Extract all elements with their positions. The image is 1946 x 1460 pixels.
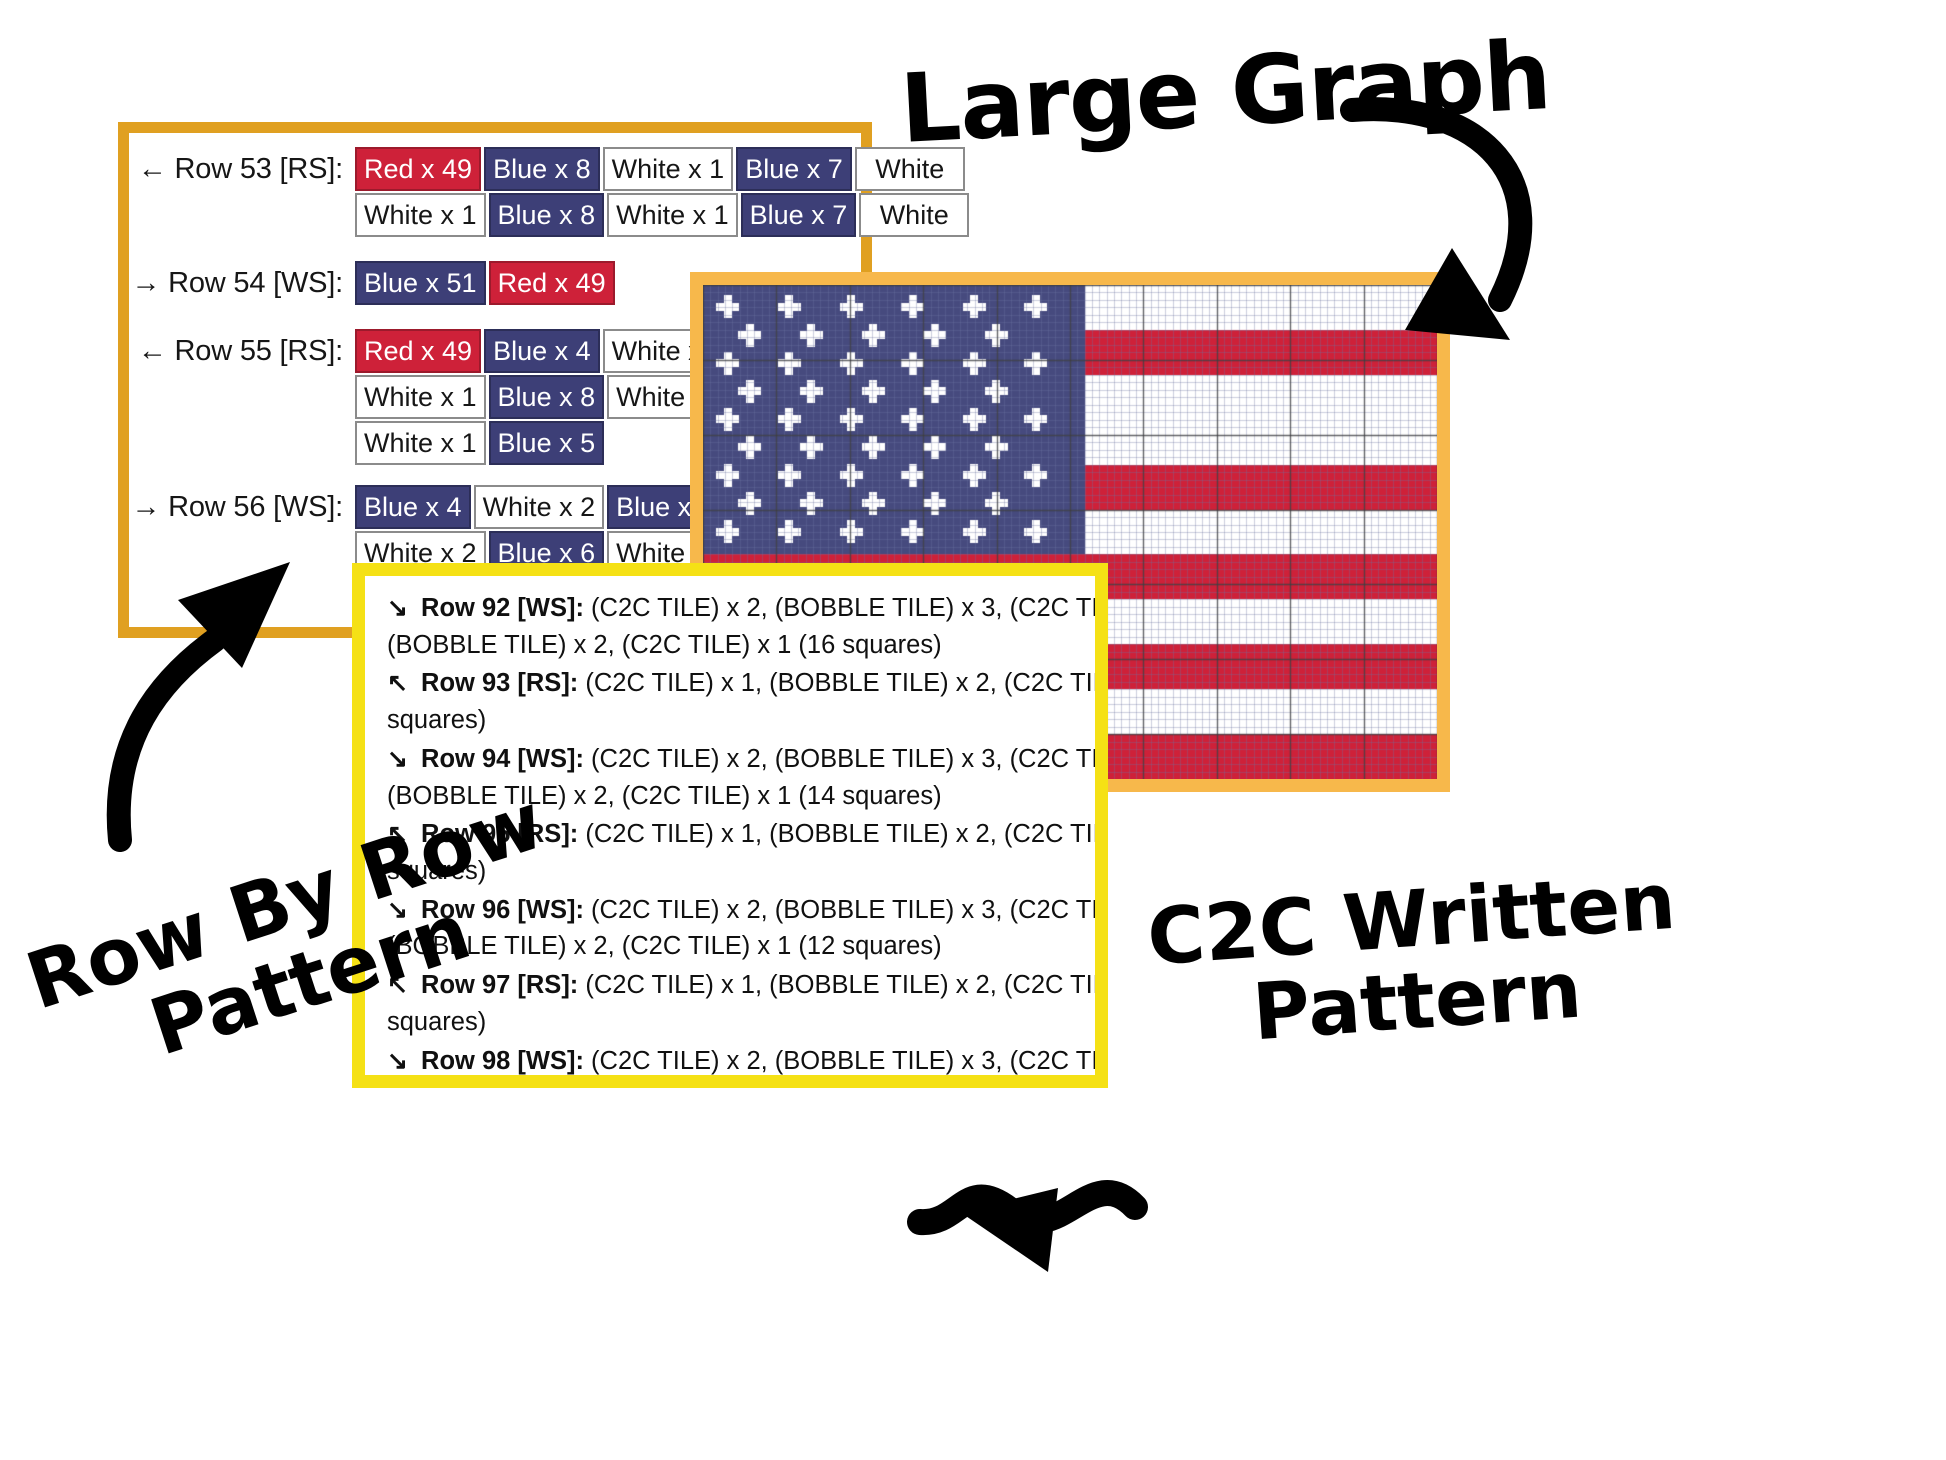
c2c-row-instructions: (C2C TILE) x 2, (BOBBLE TILE) x 3, (C2C … (591, 745, 1108, 773)
color-count-cell: Blue x 8 (489, 375, 605, 419)
color-count-cell: White x 1 (355, 421, 486, 465)
color-count-cell: Blue x 4 (355, 485, 471, 529)
c2c-row-continuation: (BOBBLE TILE) x 2, (C2C TILE) x 1 (12 sq… (387, 928, 1095, 965)
label-c2c-line2: Pattern (1151, 943, 1684, 1062)
c2c-row-continuation: squares) (387, 702, 1095, 739)
c2c-pattern-line: ↘ Row 98 [WS]: (C2C TILE) x 2, (BOBBLE T… (387, 1043, 1095, 1080)
c2c-pattern-line: ↘ Row 96 [WS]: (C2C TILE) x 2, (BOBBLE T… (387, 892, 1095, 929)
c2c-pattern-line: ↖ Row 93 [RS]: (C2C TILE) x 1, (BOBBLE T… (387, 665, 1095, 702)
c2c-row-continuation: squares) (387, 1079, 1095, 1088)
direction-arrow-icon: ↖ (387, 669, 414, 697)
color-count-cell: Blue x 4 (484, 329, 600, 373)
row-color-cells: White x 1Blue x 8White x 1Blue x 7White (355, 193, 972, 237)
c2c-row-instructions: (C2C TILE) x 2, (BOBBLE TILE) x 3, (C2C … (591, 1047, 1108, 1075)
direction-arrow-icon: ↖ (387, 971, 414, 999)
row-label: ← Row 53 [RS]: (129, 153, 355, 186)
color-count-cell: White (859, 193, 969, 237)
poster-canvas: ← Row 53 [RS]:Red x 49Blue x 8White x 1B… (0, 0, 1946, 1460)
c2c-row-label: Row 98 [WS]: (414, 1047, 591, 1075)
row-color-cells: Red x 49Blue x 8White x 1Blue x 7White (355, 147, 968, 191)
direction-arrow-icon: ↘ (387, 594, 414, 622)
row-by-row-line: ← Row 53 [RS]:Red x 49Blue x 8White x 1B… (129, 147, 861, 191)
color-count-cell: Red x 49 (355, 147, 481, 191)
row-color-cells: Blue x 51Red x 49 (355, 261, 618, 305)
c2c-pattern-line: ↖ Row 95 [RS]: (C2C TILE) x 1, (BOBBLE T… (387, 816, 1095, 853)
row-label: → Row 56 [WS]: (129, 491, 355, 524)
color-count-cell: White (855, 147, 965, 191)
c2c-row-instructions: (C2C TILE) x 1, (BOBBLE TILE) x 2, (C2C … (585, 971, 1108, 999)
c2c-row-continuation: squares) (387, 1004, 1095, 1041)
c2c-row-label: Row 96 [WS]: (414, 896, 591, 924)
label-c2c-line1: C2C Written (1145, 862, 1678, 981)
color-count-cell: White x 1 (607, 193, 738, 237)
color-count-cell: White x 2 (474, 485, 605, 529)
c2c-row-instructions: (C2C TILE) x 2, (BOBBLE TILE) x 3, (C2C … (591, 594, 1108, 622)
color-count-cell: White x 1 (355, 193, 486, 237)
color-count-cell: White x 1 (603, 147, 734, 191)
row-by-row-line: White x 1Blue x 8White x 1Blue x 7White (129, 193, 861, 237)
c2c-row-label: Row 94 [WS]: (414, 745, 591, 773)
c2c-row-continuation: (BOBBLE TILE) x 2, (C2C TILE) x 1 (14 sq… (387, 778, 1095, 815)
c2c-row-instructions: (C2C TILE) x 1, (BOBBLE TILE) x 2, (C2C … (585, 820, 1108, 848)
row-spacer (129, 239, 861, 261)
color-count-cell: Red x 49 (489, 261, 615, 305)
color-count-cell: Blue x 8 (489, 193, 605, 237)
row-label: ← Row 55 [RS]: (129, 335, 355, 368)
color-count-cell: Blue x 7 (741, 193, 857, 237)
c2c-row-instructions: (C2C TILE) x 1, (BOBBLE TILE) x 2, (C2C … (585, 669, 1108, 697)
color-count-cell: Red x 49 (355, 329, 481, 373)
color-count-cell: Blue x 5 (489, 421, 605, 465)
row-color-cells: White x 1Blue x 5 (355, 421, 607, 465)
direction-arrow-icon: ↘ (387, 896, 414, 924)
direction-arrow-icon: ↘ (387, 1047, 414, 1075)
row-label: → Row 54 [WS]: (129, 267, 355, 300)
c2c-pattern-line: ↖ Row 97 [RS]: (C2C TILE) x 1, (BOBBLE T… (387, 967, 1095, 1004)
c2c-row-instructions: (C2C TILE) x 2, (BOBBLE TILE) x 3, (C2C … (591, 896, 1108, 924)
color-count-cell: Blue x 8 (484, 147, 600, 191)
direction-arrow-icon: ↘ (387, 745, 414, 773)
c2c-written-pattern-panel: ↘ Row 92 [WS]: (C2C TILE) x 2, (BOBBLE T… (352, 563, 1108, 1088)
c2c-row-label: Row 92 [WS]: (414, 594, 591, 622)
c2c-pattern-line: ↘ Row 92 [WS]: (C2C TILE) x 2, (BOBBLE T… (387, 590, 1095, 627)
c2c-row-continuation: (BOBBLE TILE) x 2, (C2C TILE) x 1 (16 sq… (387, 627, 1095, 664)
c2c-pattern-line: ↘ Row 94 [WS]: (C2C TILE) x 2, (BOBBLE T… (387, 741, 1095, 778)
c2c-lines: ↘ Row 92 [WS]: (C2C TILE) x 2, (BOBBLE T… (365, 576, 1095, 1088)
label-large-graph-text: Large Graph (898, 21, 1553, 165)
c2c-row-label: Row 93 [RS]: (414, 669, 585, 697)
c2c-written-arrow (920, 1188, 1135, 1272)
c2c-row-label: Row 95 [RS]: (414, 820, 585, 848)
c2c-row-label: Row 97 [RS]: (414, 971, 585, 999)
color-count-cell: White x 1 (355, 375, 486, 419)
color-count-cell: Blue x 7 (736, 147, 852, 191)
color-count-cell: Blue x 51 (355, 261, 486, 305)
label-c2c-written: C2C Written Pattern (1145, 862, 1684, 1062)
c2c-row-continuation: squares) (387, 853, 1095, 890)
label-large-graph: Large Graph (898, 21, 1553, 165)
direction-arrow-icon: ↖ (387, 820, 414, 848)
